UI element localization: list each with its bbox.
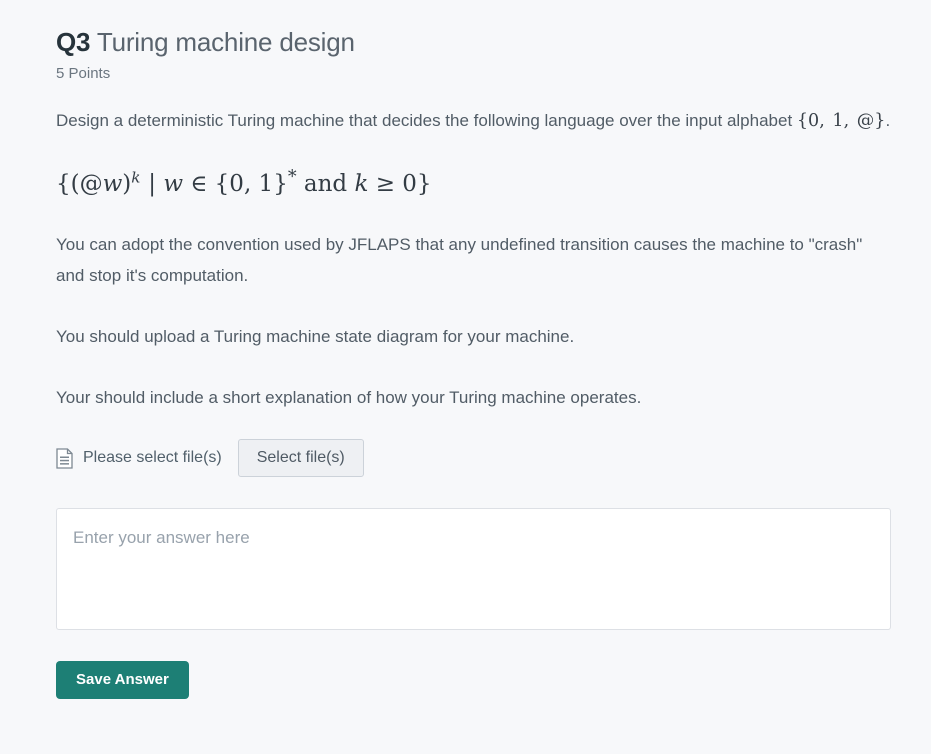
question-number: Q3 (56, 27, 90, 57)
formula-geq: ≥ (376, 171, 395, 197)
formula-zero: 0 (402, 171, 417, 197)
paragraph-1-prefix: Design a deterministic Turing machine th… (56, 111, 797, 130)
formula-gap-7 (368, 171, 375, 197)
formula-close-paren: ) (122, 171, 131, 197)
question-content: Q3 Turing machine design 5 Points Design… (56, 0, 892, 699)
formula-gap-4 (207, 171, 214, 197)
formula-k-var: k (354, 171, 368, 197)
file-upload-row: Please select file(s) Select file(s) (56, 437, 892, 479)
answer-input[interactable] (56, 508, 891, 630)
question-points: 5 Points (56, 59, 892, 84)
formula-set: {0, 1} (215, 171, 288, 197)
formula-star: * (288, 167, 297, 187)
page-title: Q3 Turing machine design (56, 0, 892, 59)
formula-divider: | (148, 171, 156, 197)
question-paragraph-3: You should upload a Turing machine state… (56, 321, 892, 352)
formula-member-var: w (163, 171, 183, 197)
select-files-button[interactable]: Select file(s) (238, 439, 364, 477)
formula-w-var: w (103, 171, 123, 197)
question-body: Design a deterministic Turing machine th… (56, 84, 892, 413)
document-icon (56, 448, 73, 469)
formula-open: {(@ (56, 171, 103, 197)
formula-gap-5 (297, 171, 304, 197)
paragraph-1-suffix: . (885, 111, 890, 130)
inline-alphabet-math: {0, 1, @} (797, 111, 886, 131)
assignment-question-page: Q3 Turing machine design 5 Points Design… (0, 0, 931, 754)
formula-close-brace: } (417, 171, 432, 197)
file-status-label: Please select file(s) (83, 449, 222, 467)
formula-and: and (304, 171, 347, 197)
question-paragraph-4: Your should include a short explanation … (56, 382, 892, 413)
save-answer-button[interactable]: Save Answer (56, 661, 189, 699)
question-paragraph-1: Design a deterministic Turing machine th… (56, 105, 892, 137)
formula-element-of: ∈ (190, 171, 207, 197)
question-title-text: Turing machine design (97, 27, 355, 57)
question-paragraph-2: You can adopt the convention used by JFL… (56, 229, 892, 291)
language-formula: {(@w)k | w ∈ {0, 1}* and k ≥ 0} (56, 165, 892, 201)
